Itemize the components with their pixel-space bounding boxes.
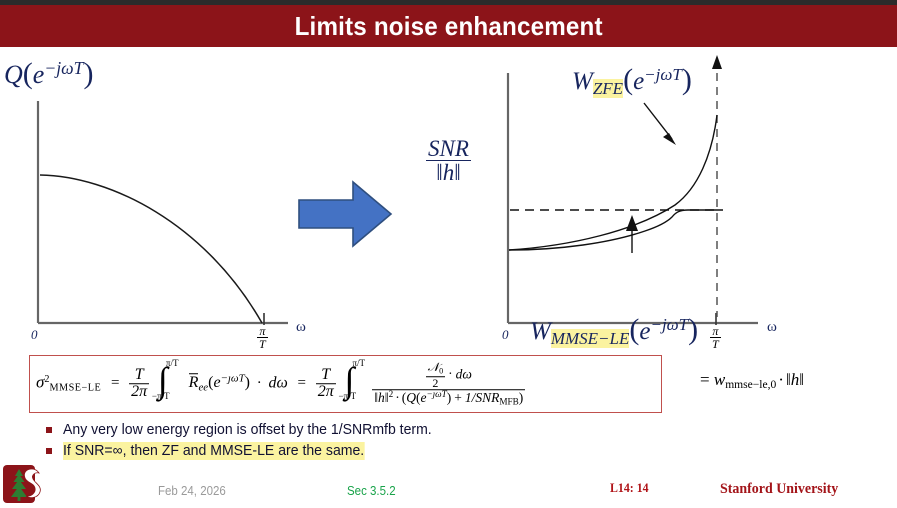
q-fn: Q	[406, 390, 416, 405]
den-paren-close: )	[519, 390, 524, 405]
exponent-zfe: −jωT	[644, 65, 682, 84]
arrow-shape	[299, 182, 391, 246]
w-symbol-mmse: W	[530, 318, 551, 345]
bullet-list: Any very low energy region is offset by …	[30, 421, 650, 462]
norm-h-sq: 2	[389, 389, 394, 399]
integral-lower-1: −π/T	[152, 391, 170, 401]
q-curve	[40, 175, 262, 323]
fraction-numerator: 𝒩02·dω	[372, 361, 525, 389]
rhs-equals: =	[700, 370, 710, 389]
stanford-tree-logo	[2, 463, 46, 508]
mmse-subscript: MMSE−LE	[551, 329, 630, 348]
paren-open: (	[23, 57, 33, 90]
right-x-tick-zero: 0	[502, 327, 509, 343]
mfb-subscript: MFB	[499, 396, 518, 406]
footer-university: Stanford University	[720, 481, 838, 498]
q-symbol: Q	[4, 60, 23, 89]
two-den: 2	[426, 376, 446, 389]
page-title: Limits noise enhancement	[294, 11, 602, 42]
pi-numerator: π	[257, 325, 268, 337]
asymptote-arrowhead	[712, 55, 722, 69]
dot-1: ·	[257, 375, 262, 391]
t-denominator: T	[257, 337, 268, 350]
norm-h-2: ‖h‖	[374, 390, 388, 405]
right-x-axis-label: ω	[767, 319, 777, 336]
mmse-le-curve	[509, 210, 720, 250]
r-ee-term: Ree(e−ȷωT)	[189, 374, 250, 391]
t-num-2: T	[316, 367, 336, 383]
t-denominator-right: T	[710, 337, 721, 350]
bullet-text-2: If SNR=∞, then ZF and MMSE-LE are the sa…	[63, 442, 364, 461]
rhs-norm-h: ‖h‖	[786, 370, 804, 389]
noise-over-energy-fraction: 𝒩02·dω ‖h‖2·(Q(e−ȷωT)+1/SNRMFB)	[372, 361, 525, 407]
twopi-den-1: 2π	[129, 384, 149, 401]
t-over-2pi-1: T 2π	[129, 367, 149, 401]
integral-upper-1: π/T	[166, 358, 179, 368]
slide-canvas: Limits noise enhancement Q(e−jωT) 0 π T …	[0, 0, 897, 508]
exponent-mmse: −jωT	[650, 315, 688, 334]
integral-1: ∫ π/T −π/T	[153, 367, 179, 401]
w-subscript: mmse−le,0	[725, 378, 776, 391]
w-mmse-le-0: w	[714, 370, 725, 389]
n-subscript: 0	[439, 367, 443, 376]
sigma-subscript: MMSE−LE	[49, 382, 101, 393]
r-exponent: −ȷωT	[221, 373, 245, 385]
paren-open-zfe: (	[623, 63, 633, 96]
right-chart: SNR ‖h‖	[420, 55, 897, 355]
integral-upper-2: π/T	[353, 358, 366, 368]
n0-over-2: 𝒩02	[426, 361, 446, 389]
paren-close-zfe: )	[682, 63, 692, 96]
equals-2: =	[298, 375, 306, 391]
left-chart-svg	[0, 55, 330, 355]
paren-close: )	[83, 57, 93, 90]
left-chart: Q(e−jωT) 0 π T ω	[0, 55, 330, 355]
rhs-dot: ·	[778, 370, 784, 389]
twopi-den-2: 2π	[316, 384, 336, 401]
r-paren-close: )	[245, 374, 250, 391]
mmse-le-curve-label: WMMSE−LE(e−jωT)	[530, 313, 698, 349]
w-symbol-zfe: W	[572, 68, 593, 95]
plus-sign: +	[454, 390, 462, 405]
r-bar: R	[189, 373, 199, 391]
bullet-square-icon	[46, 427, 52, 433]
r-e-base: e	[213, 374, 220, 391]
equation-rhs: = wmmse−le,0·‖h‖	[700, 370, 804, 391]
mmse-pointer-arrowhead	[626, 215, 638, 231]
sigma-mmse-le-equation-box: σ2MMSE−LE = T 2π ∫ π/T −π/T Ree(e−ȷωT) ·…	[29, 355, 662, 413]
integral-lower-2: −π/T	[339, 391, 357, 401]
right-chart-svg	[420, 55, 897, 355]
zfe-curve-label: WZFE(e−jωT)	[572, 63, 692, 99]
list-item: If SNR=∞, then ZF and MMSE-LE are the sa…	[30, 442, 650, 461]
zfe-curve	[509, 115, 717, 250]
footer-date: Feb 24, 2026	[158, 484, 226, 498]
right-chart-y-axis-label: SNR ‖h‖	[426, 137, 471, 185]
domega-1: dω	[268, 374, 287, 391]
paren-close-mmse: )	[688, 313, 698, 346]
bullet-text-1: Any very low energy region is offset by …	[63, 421, 432, 440]
integral-2: ∫ π/T −π/T	[340, 367, 366, 401]
list-item: Any very low energy region is offset by …	[30, 421, 650, 440]
paren-open-mmse: (	[629, 313, 639, 346]
dot-3: ·	[395, 390, 400, 405]
left-x-axis-label: ω	[296, 319, 306, 336]
equals-1: =	[111, 375, 119, 391]
zfe-pointer-line	[644, 103, 672, 139]
exponent: −jωT	[44, 58, 83, 78]
q-exponent: −ȷωT	[426, 389, 446, 399]
domega-2: dω	[456, 366, 472, 381]
q-paren-close: )	[447, 390, 452, 405]
snr-numerator: SNR	[426, 137, 471, 160]
zfe-pointer-arrowhead	[663, 133, 676, 145]
equation-content: σ2MMSE−LE = T 2π ∫ π/T −π/T Ree(e−ȷωT) ·…	[36, 361, 525, 407]
norm-h-denominator: ‖h‖	[426, 160, 471, 184]
e-base-mmse: e	[639, 318, 650, 345]
implies-arrow	[295, 178, 395, 250]
r-subscript: ee	[198, 381, 208, 393]
slide-title-bar: Limits noise enhancement	[0, 5, 897, 47]
fraction-denominator: ‖h‖2·(Q(e−ȷωT)+1/SNRMFB)	[372, 389, 525, 407]
t-num-1: T	[129, 367, 149, 383]
e-base-zfe: e	[633, 68, 644, 95]
footer-section: Sec 3.5.2	[347, 484, 396, 498]
e-base: e	[33, 60, 45, 89]
inverse-snr: 1/SNR	[465, 390, 500, 405]
t-over-2pi-2: T 2π	[316, 367, 336, 401]
pi-numerator-right: π	[710, 325, 721, 337]
footer-lecture-number: L14: 14	[610, 481, 649, 496]
n0-num: 𝒩0	[426, 361, 446, 376]
script-n: 𝒩	[428, 360, 440, 374]
left-x-tick-pi-over-T: π T	[257, 325, 268, 350]
bullet-square-icon	[46, 448, 52, 454]
left-chart-y-axis-label: Q(e−jωT)	[4, 57, 93, 91]
dot-2: ·	[448, 366, 453, 381]
right-x-tick-pi-over-T: π T	[710, 325, 721, 350]
zfe-subscript: ZFE	[593, 79, 623, 98]
left-x-tick-zero: 0	[31, 327, 38, 343]
